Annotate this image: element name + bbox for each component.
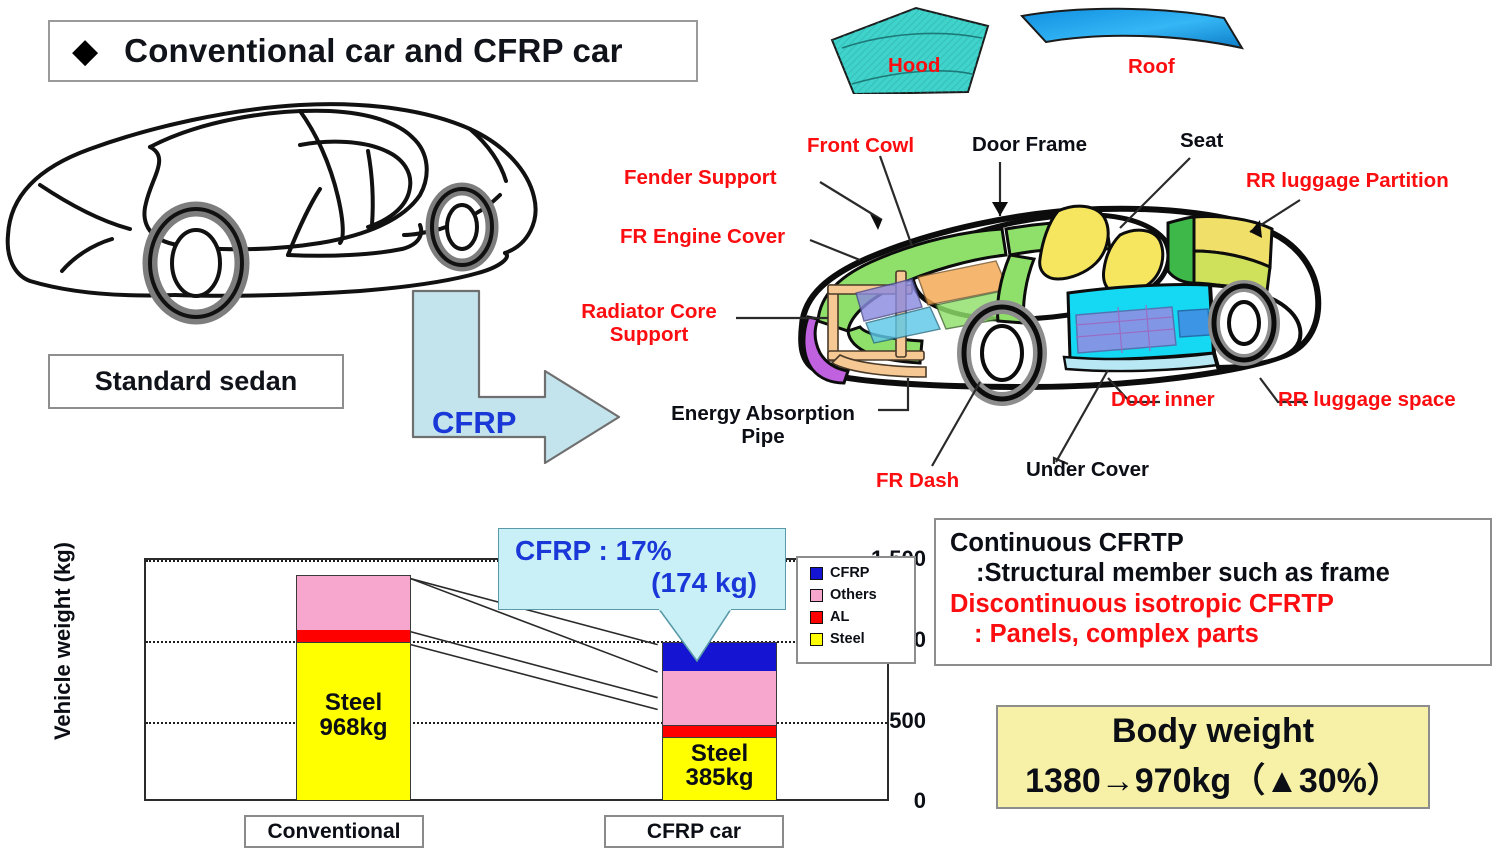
legend-item-steel[interactable]: Steel bbox=[810, 631, 914, 647]
exploded-car-body-icon bbox=[770, 175, 1330, 435]
body-weight-box: Body weight 1380→970kg（▲30%） bbox=[996, 705, 1430, 809]
label-energy-absorption-pipe-line1: Energy Absorption bbox=[648, 403, 878, 426]
label-hood: Hood bbox=[888, 55, 940, 78]
body-weight-title: Body weight bbox=[1112, 712, 1314, 751]
label-fender-support: Fender Support bbox=[624, 167, 777, 190]
cfrp-callout-line1: CFRP : 17% bbox=[515, 535, 785, 567]
label-door-frame: Door Frame bbox=[972, 134, 1087, 157]
info-line-3: Discontinuous isotropic CFRTP bbox=[950, 589, 1490, 619]
slide-title-box: ◆ Conventional car and CFRP car bbox=[48, 20, 698, 82]
info-line-4: : Panels, complex parts bbox=[950, 619, 1490, 649]
y-axis-title: Vehicle weight (kg) bbox=[50, 526, 76, 756]
legend-swatch-steel bbox=[810, 633, 823, 646]
standard-sedan-caption-box: Standard sedan bbox=[48, 354, 344, 409]
label-energy-absorption-pipe: Energy Absorption Pipe bbox=[648, 403, 878, 449]
label-fr-dash: FR Dash bbox=[876, 470, 959, 493]
info-line-1: Continuous CFRTP bbox=[950, 528, 1490, 558]
legend-item-others[interactable]: Others bbox=[810, 587, 914, 603]
x-label-cfrp-car: CFRP car bbox=[604, 815, 784, 848]
label-seat: Seat bbox=[1180, 130, 1223, 153]
label-energy-absorption-pipe-line2: Pipe bbox=[648, 426, 878, 449]
cfrp-arrow-label: CFRP bbox=[432, 405, 516, 441]
page-title: Conventional car and CFRP car bbox=[124, 32, 622, 70]
info-line-2: :Structural member such as frame bbox=[950, 558, 1490, 588]
body-weight-value: 1380→970kg（▲30%） bbox=[1025, 753, 1401, 802]
label-rr-luggage-space: RR luggage space bbox=[1278, 389, 1456, 412]
label-radiator-core-support-line1: Radiator Core bbox=[564, 301, 734, 324]
vehicle-weight-chart: Vehicle weight (kg) 1,500 1,000 500 0 St… bbox=[26, 520, 926, 856]
legend-label-steel: Steel bbox=[830, 631, 865, 647]
label-door-inner: Door inner bbox=[1111, 389, 1215, 412]
label-fr-engine-cover: FR Engine Cover bbox=[620, 226, 785, 249]
legend-item-al[interactable]: AL bbox=[810, 609, 914, 625]
legend-item-cfrp[interactable]: CFRP bbox=[810, 565, 914, 581]
label-roof: Roof bbox=[1128, 56, 1175, 79]
cfrp-callout-line2: (174 kg) bbox=[515, 567, 785, 599]
label-front-cowl: Front Cowl bbox=[807, 135, 914, 158]
standard-sedan-label: Standard sedan bbox=[95, 366, 298, 397]
legend-label-al: AL bbox=[830, 609, 849, 625]
hood-panel-icon bbox=[820, 4, 1040, 94]
chart-legend: CFRP Others AL Steel bbox=[796, 556, 916, 664]
legend-label-others: Others bbox=[830, 587, 877, 603]
legend-label-cfrp: CFRP bbox=[830, 565, 869, 581]
x-label-conventional: Conventional bbox=[244, 815, 424, 848]
cfrtp-info-box: Continuous CFRTP :Structural member such… bbox=[934, 518, 1492, 666]
legend-swatch-al bbox=[810, 611, 823, 624]
cfrp-callout-box: CFRP : 17% (174 kg) bbox=[498, 528, 786, 610]
diamond-bullet-icon: ◆ bbox=[72, 34, 98, 68]
slide-root: ◆ Conventional car and CFRP car bbox=[0, 0, 1500, 856]
callout-tail-icon bbox=[657, 609, 733, 663]
label-radiator-core-support: Radiator Core Support bbox=[564, 301, 734, 347]
label-radiator-core-support-line2: Support bbox=[564, 324, 734, 347]
legend-swatch-others bbox=[810, 589, 823, 602]
label-under-cover: Under Cover bbox=[1026, 459, 1149, 482]
legend-swatch-cfrp bbox=[810, 567, 823, 580]
label-rr-luggage-partition: RR luggage Partition bbox=[1246, 170, 1449, 193]
